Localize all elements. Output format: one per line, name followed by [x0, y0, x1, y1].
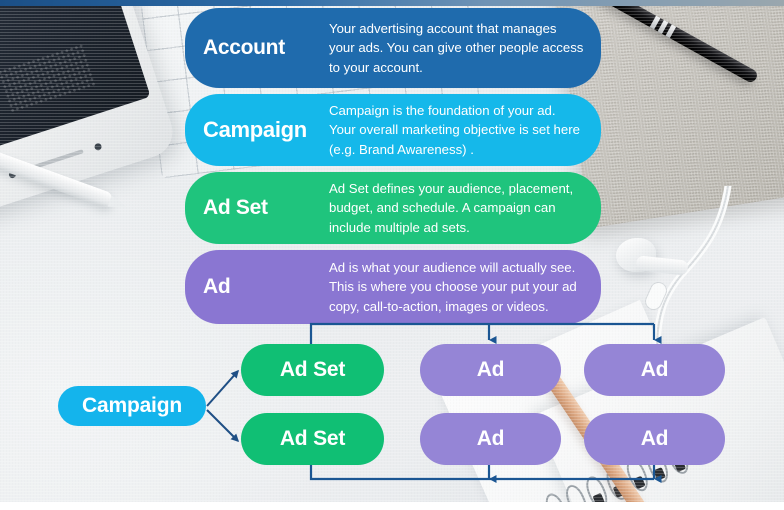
- glossary-term-account: Account: [203, 37, 329, 59]
- glossary-description-campaign: Campaign is the foundation of your ad. Y…: [329, 101, 585, 159]
- glossary-term-ad: Ad: [203, 276, 329, 298]
- glossary-row-account: Account Your advertising account that ma…: [185, 8, 601, 88]
- glossary-term-campaign: Campaign: [203, 118, 329, 141]
- infographic-canvas: Account Your advertising account that ma…: [0, 0, 784, 510]
- glossary-description-account: Your advertising account that manages yo…: [329, 19, 585, 77]
- diagram-node-ad-1[interactable]: Ad: [420, 344, 561, 396]
- glossary-list: Account Your advertising account that ma…: [185, 8, 601, 330]
- connector-campaign-to-adset-1: [207, 371, 238, 406]
- diagram-node-ad-set-2[interactable]: Ad Set: [241, 413, 384, 465]
- glossary-row-ad: Ad Ad is what your audience will actuall…: [185, 250, 601, 324]
- connector-campaign-to-adset-2: [207, 410, 238, 441]
- diagram-node-ad-set-1[interactable]: Ad Set: [241, 344, 384, 396]
- diagram-node-ad-4[interactable]: Ad: [584, 413, 725, 465]
- bottom-edge-strip: [0, 502, 784, 510]
- glossary-description-ad: Ad is what your audience will actually s…: [329, 258, 585, 316]
- diagram-node-ad-3[interactable]: Ad: [420, 413, 561, 465]
- diagram-node-campaign[interactable]: Campaign: [58, 386, 206, 426]
- glossary-row-ad-set: Ad Set Ad Set defines your audience, pla…: [185, 172, 601, 244]
- glossary-term-ad-set: Ad Set: [203, 197, 329, 219]
- ad-hierarchy-diagram: Campaign Ad Set Ad Set Ad Ad Ad Ad: [0, 316, 784, 510]
- glossary-row-campaign: Campaign Campaign is the foundation of y…: [185, 94, 601, 166]
- top-edge-strip: [0, 0, 784, 6]
- diagram-node-ad-2[interactable]: Ad: [584, 344, 725, 396]
- glossary-description-ad-set: Ad Set defines your audience, placement,…: [329, 179, 585, 237]
